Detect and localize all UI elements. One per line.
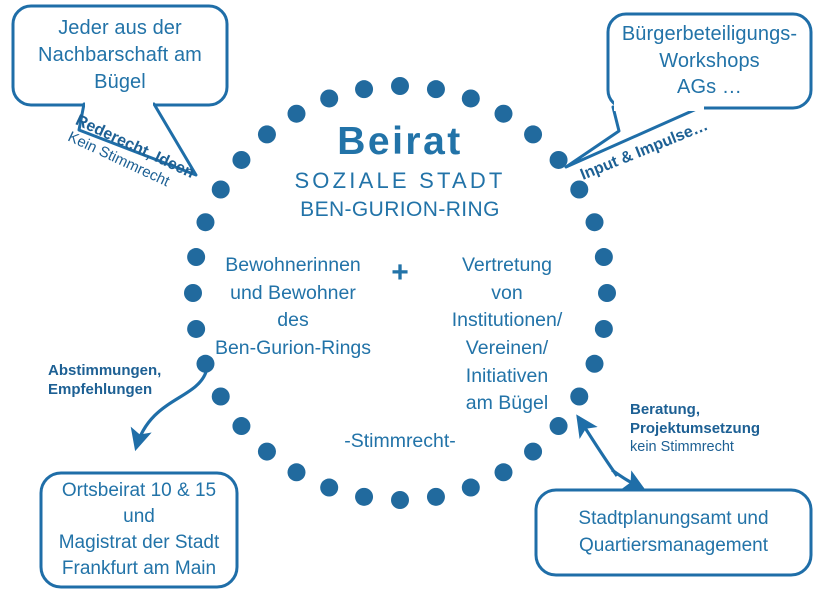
center-subtitle: SOZIALE STADT [210, 165, 590, 197]
box-line: Stadtplanungsamt und [578, 506, 768, 532]
box-line: Ortsbeirat 10 & 15 [62, 478, 216, 504]
bubble-line: Bügel [94, 69, 146, 96]
ring-dot [288, 463, 306, 481]
box-line: Magistrat der Stadt [59, 530, 220, 556]
center-right-line: am Bügel [418, 390, 596, 418]
center-right-line: Institutionen/ [418, 307, 596, 335]
speech-bubble-top-left-text: Jeder aus der Nachbarschaft am Bügel [19, 8, 221, 103]
center-right-line: Initiativen [418, 363, 596, 391]
box-line: Quartiersmanagement [579, 533, 768, 559]
caption-beratung-line: Beratung, [630, 400, 760, 419]
bubble-line: Bürgerbeteiligungs- [622, 21, 797, 48]
caption-beratung: Beratung, Projektumsetzung kein Stimmrec… [630, 400, 760, 457]
center-left-line: des [204, 307, 382, 335]
ring-dot [355, 80, 373, 98]
arrow-beratung-down [612, 470, 643, 489]
center-right-line: von [418, 280, 596, 308]
speech-bubble-top-right-text: Bürgerbeteiligungs- Workshops AGs … [612, 16, 807, 106]
caption-abstimmungen-line: Abstimmungen, [48, 361, 161, 380]
center-footer-stimmrecht: -Stimmrecht- [260, 430, 540, 453]
bubble-line: Jeder aus der [58, 15, 182, 42]
ring-dot [427, 488, 445, 506]
center-title: Beirat [210, 122, 590, 163]
ring-dot [320, 479, 338, 497]
bubble-line: AGs … [677, 74, 742, 101]
bubble-line: Nachbarschaft am [38, 42, 202, 69]
center-right-line: Vereinen/ [418, 335, 596, 363]
center-left-line: und Bewohner [204, 280, 382, 308]
center-subsubtitle: BEN-GURION-RING [210, 197, 590, 222]
diagram-canvas: Beirat SOZIALE STADT BEN-GURION-RING Bew… [0, 0, 820, 600]
bubble-line: Workshops [659, 48, 760, 75]
ring-dot [232, 417, 250, 435]
ring-dot [427, 80, 445, 98]
caption-beratung-line: Projektumsetzung [630, 419, 760, 438]
center-left-column: Bewohnerinnen und Bewohner des Ben-Gurio… [204, 252, 382, 363]
ring-dot [495, 463, 513, 481]
caption-beratung-regular: kein Stimmrecht [630, 438, 760, 457]
ring-dot [391, 77, 409, 95]
ring-dot [391, 491, 409, 509]
plus-symbol: + [382, 258, 418, 288]
ring-dot [462, 89, 480, 107]
caption-abstimmungen-line: Empfehlungen [48, 380, 161, 399]
ring-dot [288, 105, 306, 123]
ring-dot [320, 89, 338, 107]
box-line: Frankfurt am Main [62, 556, 216, 582]
ring-dot [495, 105, 513, 123]
ring-dot [598, 284, 616, 302]
center-left-line: Ben-Gurion-Rings [204, 335, 382, 363]
box-bottom-right-text: Stadtplanungsamt und Quartiersmanagement [539, 492, 808, 573]
center-right-line: Vertretung [418, 252, 596, 280]
ring-dot [462, 479, 480, 497]
center-title-block: Beirat SOZIALE STADT BEN-GURION-RING [210, 122, 590, 222]
center-columns: Bewohnerinnen und Bewohner des Ben-Gurio… [200, 252, 600, 418]
ring-dot [355, 488, 373, 506]
center-right-column: Vertretung von Institutionen/ Vereinen/ … [418, 252, 596, 418]
ring-dot [550, 417, 568, 435]
center-left-line: Bewohnerinnen [204, 252, 382, 280]
arrow-beratung-up [578, 417, 617, 476]
caption-abstimmungen: Abstimmungen, Empfehlungen [48, 361, 161, 399]
box-bottom-left-text: Ortsbeirat 10 & 15 und Magistrat der Sta… [44, 474, 234, 586]
box-line: und [123, 504, 155, 530]
